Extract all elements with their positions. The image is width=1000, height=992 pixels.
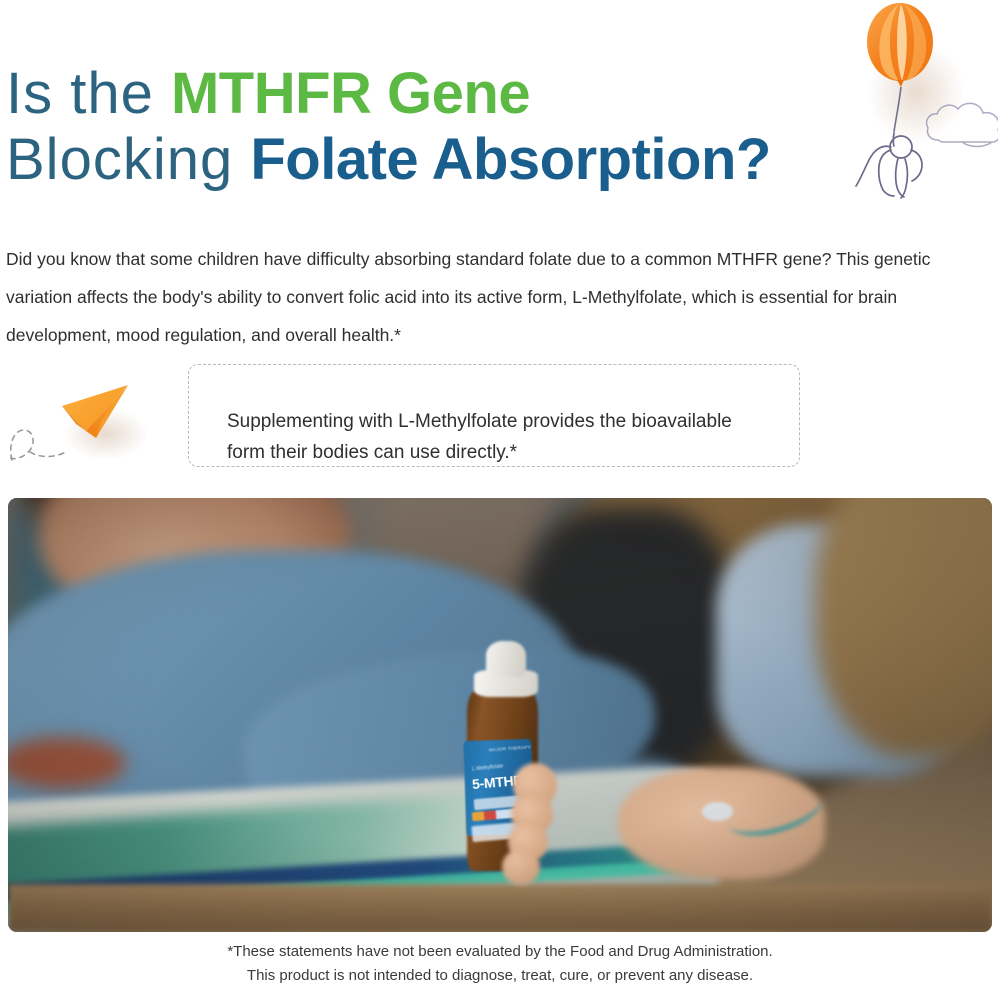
paper-plane-icon xyxy=(10,372,160,480)
paper-plane-illustration xyxy=(10,372,160,480)
dashed-loop-trail-icon xyxy=(10,430,66,460)
headline-line-2-light: Blocking xyxy=(6,127,250,192)
lifestyle-photo: MAJOR THERAPY L-Methylfolate 5-MTHF xyxy=(8,498,992,932)
photo-vignette xyxy=(8,498,992,932)
headline-line-1-accent: MTHFR Gene xyxy=(171,61,530,126)
page-title: Is the MTHFR Gene Blocking Folate Absorp… xyxy=(6,65,866,189)
headline-line-1: Is the MTHFR Gene xyxy=(6,65,866,123)
fda-disclaimer: *These statements have not been evaluate… xyxy=(0,940,1000,988)
headline-line-1-light: Is the xyxy=(6,61,171,126)
cloud-outline-icon xyxy=(927,103,998,146)
disclaimer-line-2: This product is not intended to diagnose… xyxy=(0,964,1000,988)
body-paragraph: Did you know that some children have dif… xyxy=(6,240,941,354)
headline-line-2: Blocking Folate Absorption? xyxy=(6,131,866,189)
callout-text: Supplementing with L-Methylfolate provid… xyxy=(227,406,767,468)
highlight-callout-box: Supplementing with L-Methylfolate provid… xyxy=(188,364,800,467)
disclaimer-line-1: *These statements have not been evaluate… xyxy=(0,940,1000,964)
headline-line-2-accent: Folate Absorption? xyxy=(250,127,770,192)
